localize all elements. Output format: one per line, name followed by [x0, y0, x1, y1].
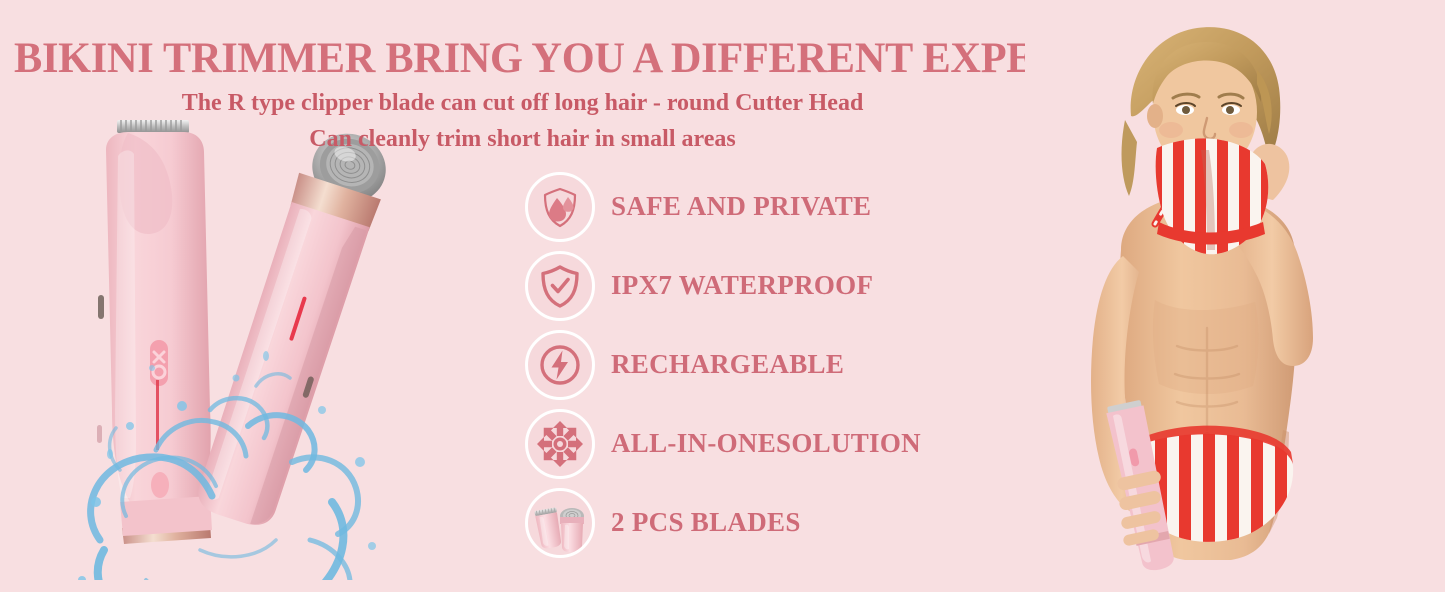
feature-item-safe-and-private: SAFE AND PRIVATE [525, 167, 921, 246]
feature-item-ipx7-waterproof: IPX7 WATERPROOF [525, 246, 921, 325]
feature-list: SAFE AND PRIVATE IPX7 WATERPROOF RECHARG… [525, 167, 921, 562]
feature-label: IPX7 WATERPROOF [611, 270, 873, 301]
feature-label: SAFE AND PRIVATE [611, 191, 871, 222]
model-photo [1025, 0, 1445, 592]
page-title: BIKINI TRIMMER BRING YOU A DIFFERENT EXP… [14, 36, 1029, 82]
shield-droplet-icon [525, 172, 595, 242]
product-banner: BIKINI TRIMMER BRING YOU A DIFFERENT EXP… [0, 0, 1445, 592]
feature-label: ALL-IN-ONESOLUTION [611, 428, 921, 459]
feature-label: 2 PCS BLADES [611, 507, 801, 538]
cutter-head-device [191, 121, 390, 532]
trimmer-device [97, 120, 212, 544]
radiating-arrows-icon [525, 409, 595, 479]
feature-label: RECHARGEABLE [611, 349, 844, 380]
subtitle-line-1: The R type clipper blade can cut off lon… [0, 90, 1045, 117]
product-photo [60, 110, 390, 580]
shield-check-icon [525, 251, 595, 321]
feature-item-all-in-one-solution: ALL-IN-ONESOLUTION [525, 404, 921, 483]
lightning-bolt-circle-icon [525, 330, 595, 400]
two-blade-heads-icon [525, 488, 595, 558]
subtitle-line-2: Can cleanly trim short hair in small are… [0, 126, 1045, 153]
feature-item-2-pcs-blades: 2 PCS BLADES [525, 483, 921, 562]
feature-item-rechargeable: RECHARGEABLE [525, 325, 921, 404]
